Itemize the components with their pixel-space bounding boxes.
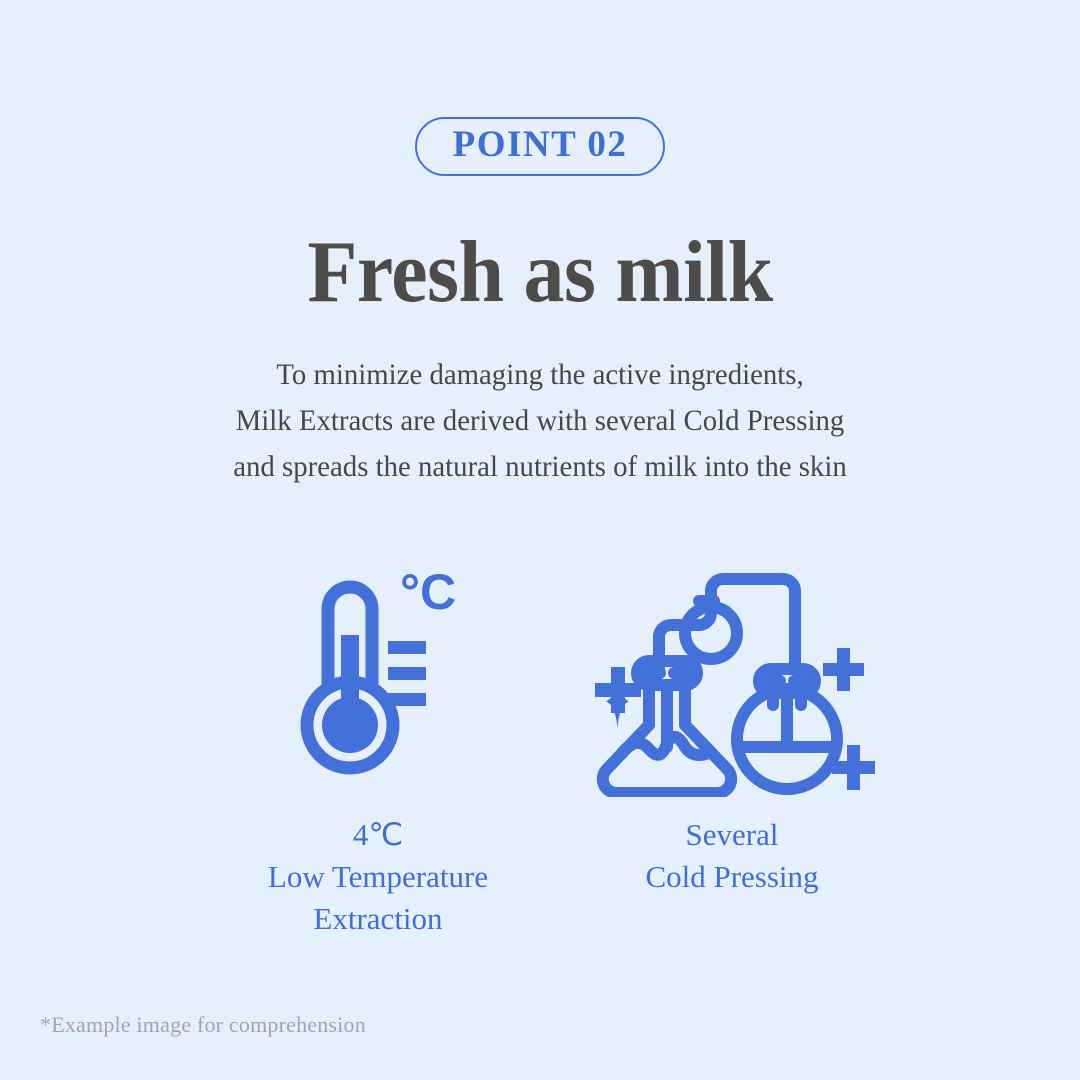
feature-2-caption-line-2: Cold Pressing xyxy=(645,856,818,898)
thermometer-icon-box: °C xyxy=(288,552,468,802)
body-line-3: and spreads the natural nutrients of mil… xyxy=(22,444,1059,490)
feature-2-caption-line-1: Several xyxy=(645,814,818,856)
footnote: *Example image for comprehension xyxy=(40,1012,366,1038)
feature-cold-pressing: Several Cold Pressing xyxy=(567,552,897,898)
feature-low-temperature: °C 4℃ Low Temperature xyxy=(213,552,543,940)
feature-1-caption-line-3: Extraction xyxy=(268,898,488,940)
feature-1-caption-line-2: Low Temperature xyxy=(268,856,488,898)
feature-1-caption: 4℃ Low Temperature Extraction xyxy=(268,814,488,940)
badge-container: POINT 02 xyxy=(0,117,1080,176)
lab-flasks-icon-box xyxy=(587,552,877,802)
body-line-1: To minimize damaging the active ingredie… xyxy=(22,352,1059,398)
features-row: °C 4℃ Low Temperature xyxy=(0,552,1080,940)
feature-2-caption: Several Cold Pressing xyxy=(645,814,818,898)
point-badge: POINT 02 xyxy=(415,117,666,176)
page-title: Fresh as milk xyxy=(38,227,1042,319)
body-line-2: Milk Extracts are derived with several C… xyxy=(22,398,1059,444)
lab-flasks-icon xyxy=(587,557,877,797)
promo-card: POINT 02 Fresh as milk To minimize damag… xyxy=(0,0,1080,1080)
thermometer-icon: °C xyxy=(288,557,468,797)
feature-1-caption-line-1: 4℃ xyxy=(268,814,488,856)
body-paragraph: To minimize damaging the active ingredie… xyxy=(22,352,1059,490)
thermometer-unit-label: °C xyxy=(400,564,456,620)
